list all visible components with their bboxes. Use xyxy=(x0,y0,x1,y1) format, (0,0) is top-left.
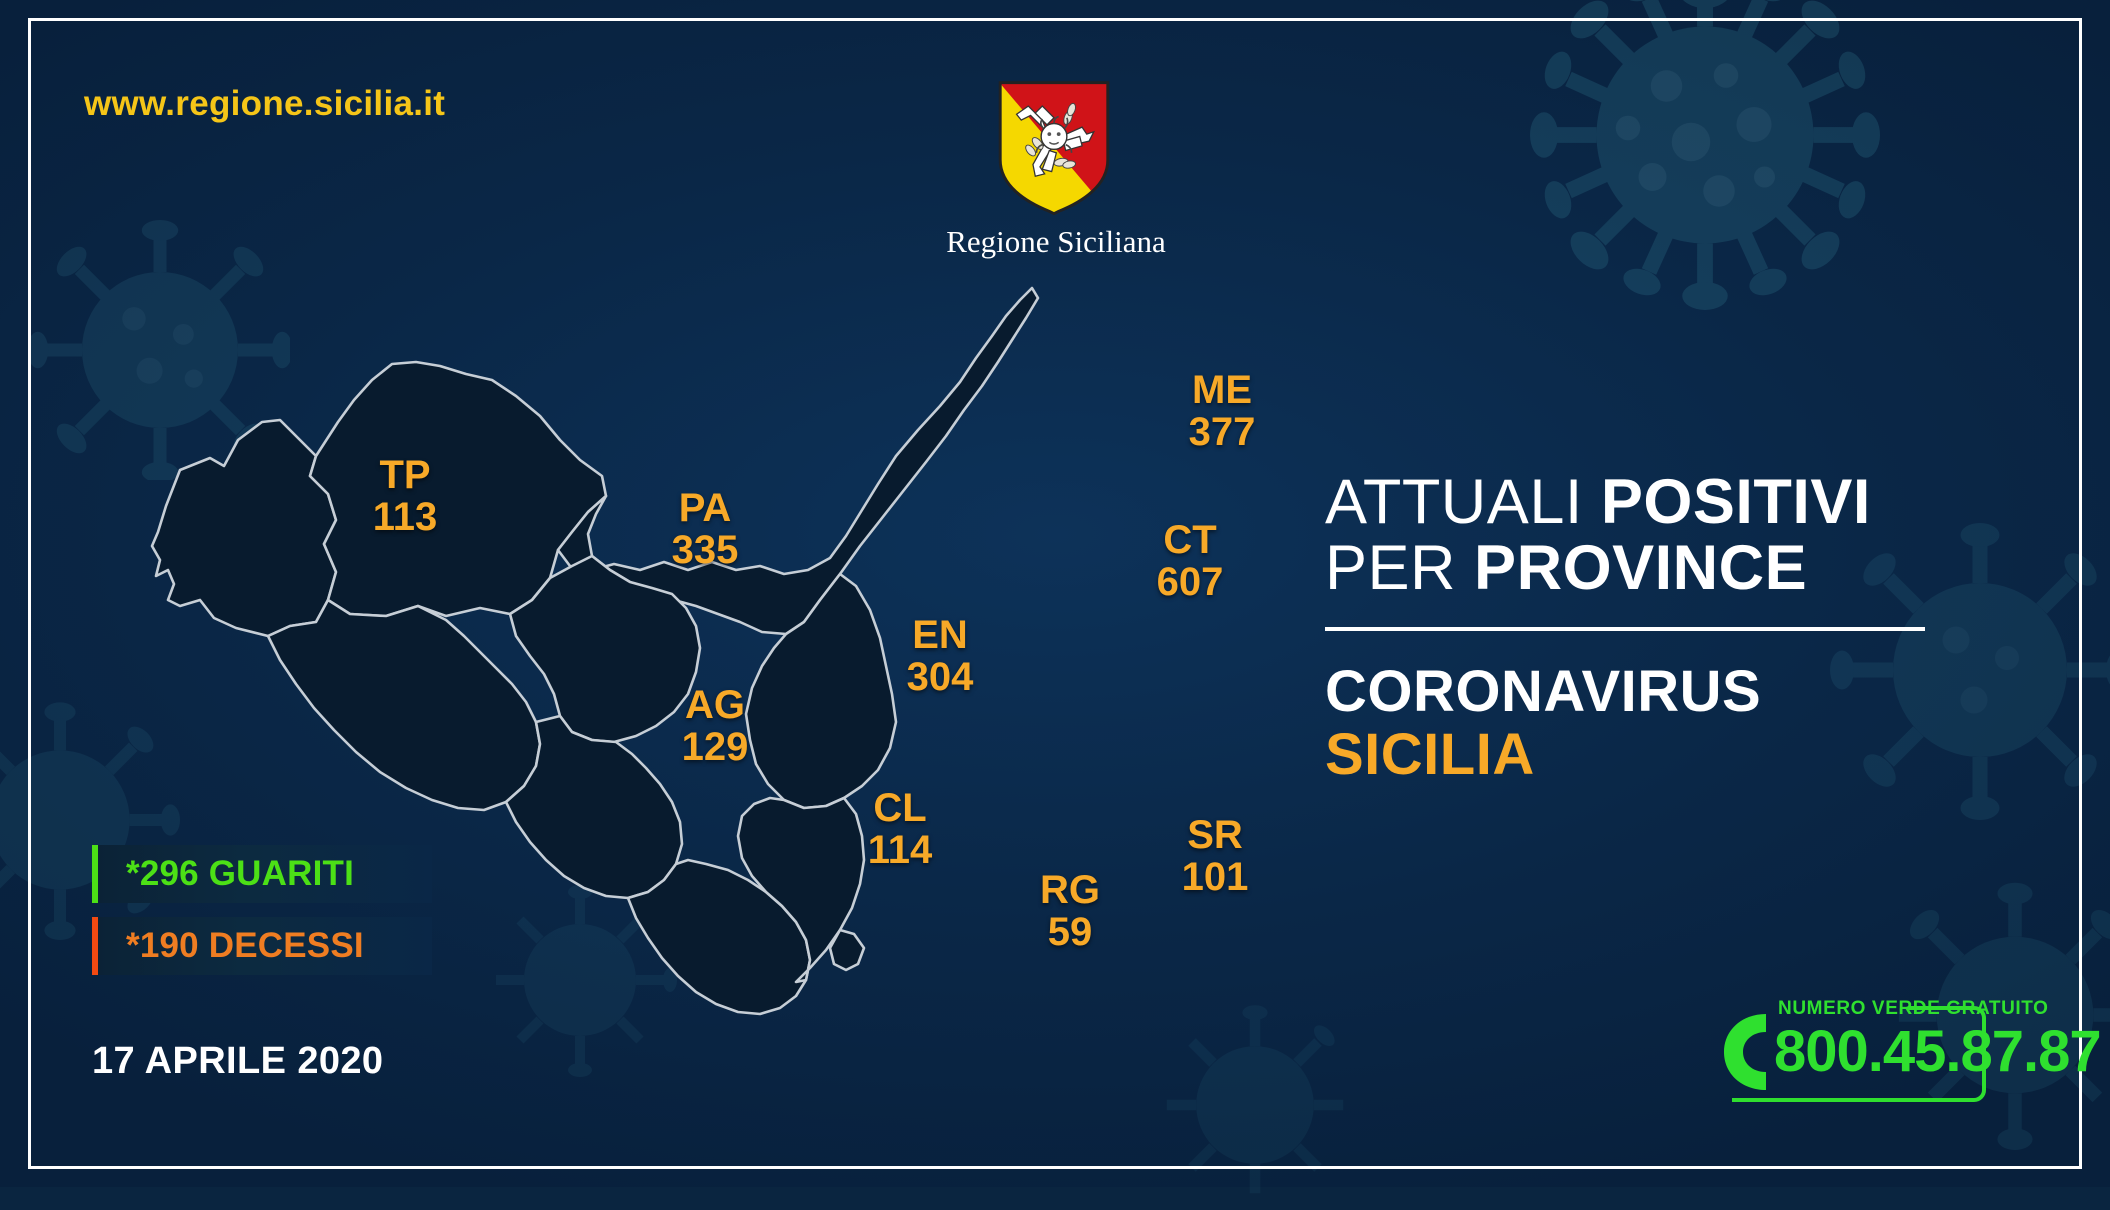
hotline-bracket xyxy=(1934,1006,1986,1102)
province-value-sr: 101 xyxy=(1155,857,1275,899)
title-block: ATTUALI POSITIVI PER PROVINCE CORONAVIRU… xyxy=(1325,470,1925,786)
province-value-pa: 335 xyxy=(645,530,765,572)
province-shape-ag xyxy=(268,600,540,810)
province-label-rg: RG 59 xyxy=(1010,870,1130,953)
province-value-cl: 114 xyxy=(840,830,960,872)
hotline-bracket-bottom xyxy=(1732,1098,1938,1102)
emblem-caption: Regione Siciliana xyxy=(926,224,1186,260)
province-value-ct: 607 xyxy=(1130,562,1250,604)
legend-text-recovered: *296 GUARITI xyxy=(92,854,354,894)
title-per: PER xyxy=(1325,533,1474,603)
province-code-ct: CT xyxy=(1130,520,1250,562)
province-code-ag: AG xyxy=(655,685,775,727)
report-date: 17 APRILE 2020 xyxy=(92,1040,383,1083)
title-positivi: POSITIVI xyxy=(1601,467,1871,537)
legend-bar-recovered xyxy=(92,845,98,903)
legend-item-recovered: *296 GUARITI xyxy=(92,845,432,903)
province-value-ag: 129 xyxy=(655,727,775,769)
province-code-cl: CL xyxy=(840,788,960,830)
province-value-me: 377 xyxy=(1162,412,1282,454)
hotline-badge[interactable]: NUMERO VERDE GRATUITO 800.45.87.87 xyxy=(1712,988,2044,1106)
province-code-en: EN xyxy=(880,615,1000,657)
legend-bar-deaths xyxy=(92,917,98,975)
virus-decoration-icon xyxy=(1530,0,1880,310)
province-code-sr: SR xyxy=(1155,815,1275,857)
legend-panel: *296 GUARITI *190 DECESSI xyxy=(92,845,432,989)
province-value-rg: 59 xyxy=(1010,912,1130,954)
province-label-tp: TP 113 xyxy=(345,455,465,538)
province-code-rg: RG xyxy=(1010,870,1130,912)
province-shape-tp xyxy=(152,420,336,636)
title-line-1: ATTUALI POSITIVI xyxy=(1325,470,1925,536)
hotline-inner: NUMERO VERDE GRATUITO 800.45.87.87 xyxy=(1770,988,2044,1106)
title-province: PROVINCE xyxy=(1474,533,1807,603)
poster-canvas: www.regione.sicilia.it xyxy=(0,0,2110,1187)
province-label-sr: SR 101 xyxy=(1155,815,1275,898)
province-code-me: ME xyxy=(1162,370,1282,412)
title-attuali: ATTUALI xyxy=(1325,467,1601,537)
sicilian-trinacria-shield-icon xyxy=(995,78,1113,216)
title-divider xyxy=(1325,627,1925,631)
province-label-pa: PA 335 xyxy=(645,488,765,571)
subtitle-coronavirus: CORONAVIRUS xyxy=(1325,661,1925,724)
title-line-2: PER PROVINCE xyxy=(1325,536,1925,602)
province-label-ag: AG 129 xyxy=(655,685,775,768)
province-code-pa: PA xyxy=(645,488,765,530)
phone-handset-icon xyxy=(1712,1006,1774,1098)
website-url[interactable]: www.regione.sicilia.it xyxy=(84,84,445,124)
province-label-cl: CL 114 xyxy=(840,788,960,871)
province-label-en: EN 304 xyxy=(880,615,1000,698)
province-label-ct: CT 607 xyxy=(1130,520,1250,603)
province-value-en: 304 xyxy=(880,657,1000,699)
legend-item-deaths: *190 DECESSI xyxy=(92,917,432,975)
legend-text-deaths: *190 DECESSI xyxy=(92,926,364,966)
province-value-tp: 113 xyxy=(345,497,465,539)
province-label-me: ME 377 xyxy=(1162,370,1282,453)
province-code-tp: TP xyxy=(345,455,465,497)
subtitle-sicilia: SICILIA xyxy=(1325,724,1925,787)
regione-siciliana-emblem: Regione Siciliana xyxy=(986,78,1122,260)
